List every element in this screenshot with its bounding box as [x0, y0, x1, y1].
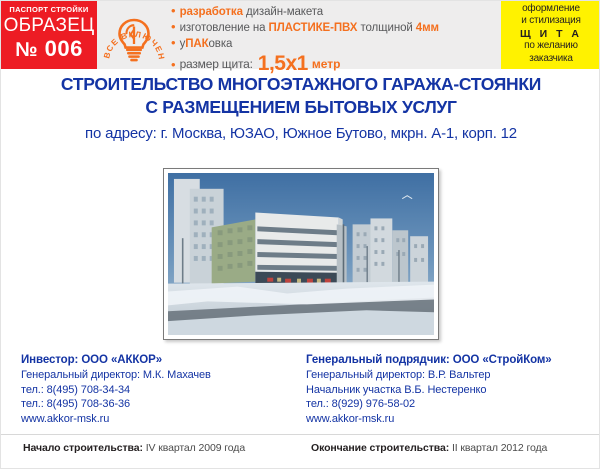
project-photo: [168, 173, 434, 335]
construction-passport-poster: ПАСПОРТ СТРОЙКИ ОБРАЗЕЦ № 006 ВСЕ ВКЛЮЧЕ…: [0, 0, 600, 469]
page-title: СТРОИТЕЛЬСТВО МНОГОЭТАЖНОГО ГАРАЖА-СТОЯН…: [1, 73, 600, 145]
customization-line-4: по желанию: [501, 40, 600, 52]
customization-line-3: Щ И Т А: [501, 28, 600, 40]
bullet-icon: •: [171, 58, 176, 71]
contractor-heading: Генеральный подрядчик: ООО «СтройКом»: [306, 353, 596, 368]
investor-director: Генеральный директор: М.К. Махачев: [21, 368, 311, 383]
project-address: по адресу: г. Москва, ЮЗАО, Южное Бутово…: [1, 123, 600, 145]
bullet-icon: •: [171, 36, 176, 49]
construction-start-label: Начало строительства:: [23, 442, 143, 454]
investor-website[interactable]: www.akkor-msk.ru: [21, 412, 311, 427]
contractor-phone-1: тел.: 8(929) 976-58-02: [306, 397, 596, 412]
project-title-line-2: С РАЗМЕЩЕНИЕМ БЫТОВЫХ УСЛУГ: [1, 96, 600, 119]
lightbulb-icon: ВСЕ ВКЛЮЧЕНО: [101, 2, 167, 68]
stamp-number: № 006: [1, 37, 97, 62]
promo-feature-list: • разработка дизайн-макета • изготовлени…: [171, 4, 491, 68]
size-label: размер щита:: [180, 57, 253, 71]
contractor-contact-block: Генеральный подрядчик: ООО «СтройКом» Ге…: [306, 353, 596, 426]
stamp-sample-label: ОБРАЗЕЦ: [1, 15, 97, 37]
construction-start-value: IV квартал 2009 года: [146, 442, 245, 454]
construction-end-label: Окончание строительства:: [311, 442, 449, 454]
construction-start: Начало строительства: IV квартал 2009 го…: [23, 442, 245, 454]
investor-contact-block: Инвестор: ООО «АККОР» Генеральный директ…: [21, 353, 311, 426]
investor-phone-2: тел.: 8(495) 708-36-36: [21, 397, 311, 412]
customization-line-5: заказчика: [501, 53, 600, 65]
contractor-director: Генеральный директор: В.Р. Вальтер: [306, 368, 596, 383]
feature-label-material: изготовление на ПЛАСТИКЕ-ПВХ толщиной 4м…: [180, 22, 439, 34]
bullet-icon: •: [171, 4, 176, 17]
investor-phone-1: тел.: 8(495) 708-34-34: [21, 383, 311, 398]
construction-end-value: II квартал 2012 года: [452, 442, 547, 454]
contractor-website[interactable]: www.akkor-msk.ru: [306, 412, 596, 427]
investor-heading: Инвестор: ООО «АККОР»: [21, 353, 311, 368]
feature-item-packaging: • уПАКовка: [171, 36, 491, 52]
feature-label-design: разработка дизайн-макета: [180, 6, 324, 18]
size-unit: метр: [312, 57, 341, 71]
stamp-number-value: 006: [45, 36, 83, 61]
project-title-line-1: СТРОИТЕЛЬСТВО МНОГОЭТАЖНОГО ГАРАЖА-СТОЯН…: [1, 73, 600, 96]
construction-end: Окончание строительства: II квартал 2012…: [311, 442, 547, 454]
project-photo-frame: [163, 168, 439, 340]
number-sign: №: [15, 39, 38, 61]
feature-item-material: • изготовление на ПЛАСТИКЕ-ПВХ толщиной …: [171, 20, 491, 36]
footer-divider: [1, 434, 600, 435]
feature-label-packaging: уПАКовка: [180, 38, 233, 50]
customization-line-2: и стилизация: [501, 15, 600, 27]
customization-note-box: оформление и стилизация Щ И Т А по желан…: [501, 1, 600, 69]
bullet-icon: •: [171, 20, 176, 33]
customization-line-1: оформление: [501, 3, 600, 15]
contacts-section: Инвестор: ООО «АККОР» Генеральный директ…: [1, 353, 600, 427]
contractor-site-manager: Начальник участка В.Б. Нестеренко: [306, 383, 596, 398]
schedule-footer: Начало строительства: IV квартал 2009 го…: [1, 438, 600, 469]
sample-stamp-block: ПАСПОРТ СТРОЙКИ ОБРАЗЕЦ № 006: [1, 1, 97, 69]
feature-item-design: • разработка дизайн-макета: [171, 4, 491, 20]
stamp-kicker-label: ПАСПОРТ СТРОЙКИ: [1, 4, 97, 15]
promo-header-strip: ПАСПОРТ СТРОЙКИ ОБРАЗЕЦ № 006 ВСЕ ВКЛЮЧЕ…: [1, 1, 600, 69]
